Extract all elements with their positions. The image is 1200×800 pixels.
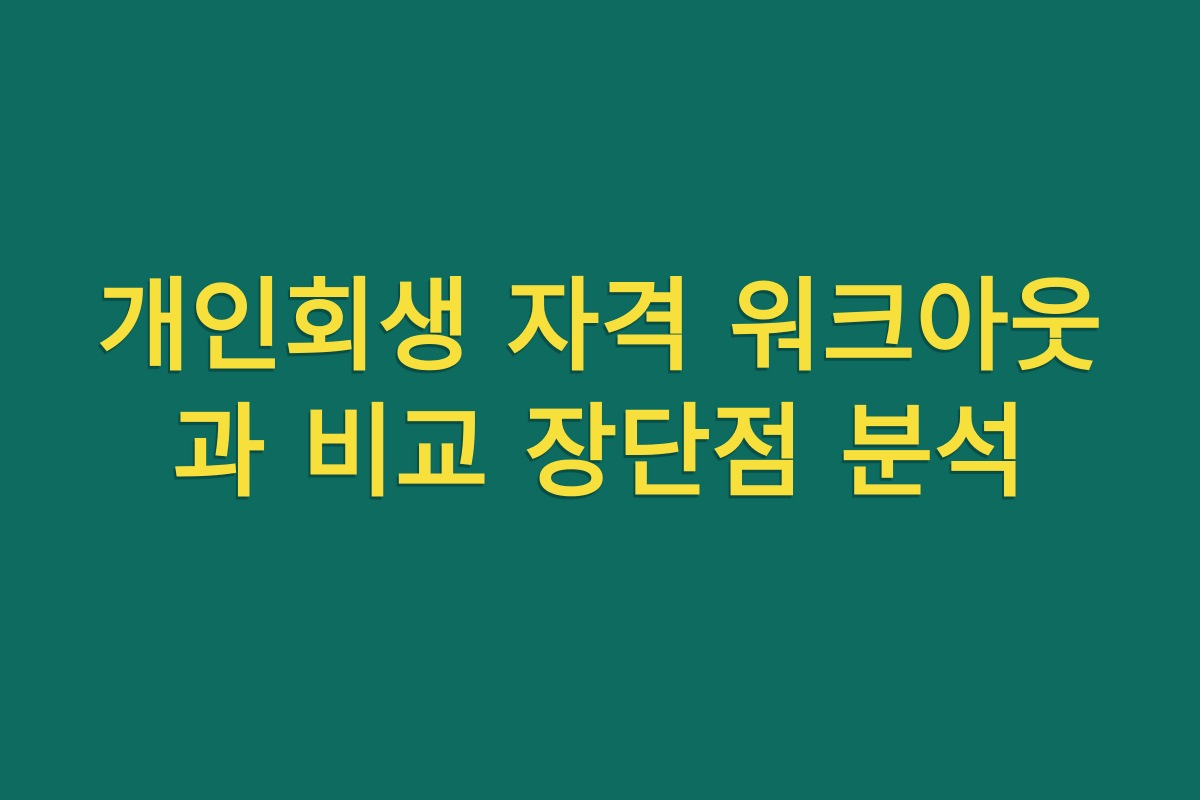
headline-line-1: 개인회생 자격 워크아웃 [40,263,1160,389]
title-card: 개인회생 자격 워크아웃 과 비교 장단점 분석 [0,0,1200,800]
headline-line-2: 과 비교 장단점 분석 [40,389,1160,515]
headline-block: 개인회생 자격 워크아웃 과 비교 장단점 분석 [0,263,1200,515]
